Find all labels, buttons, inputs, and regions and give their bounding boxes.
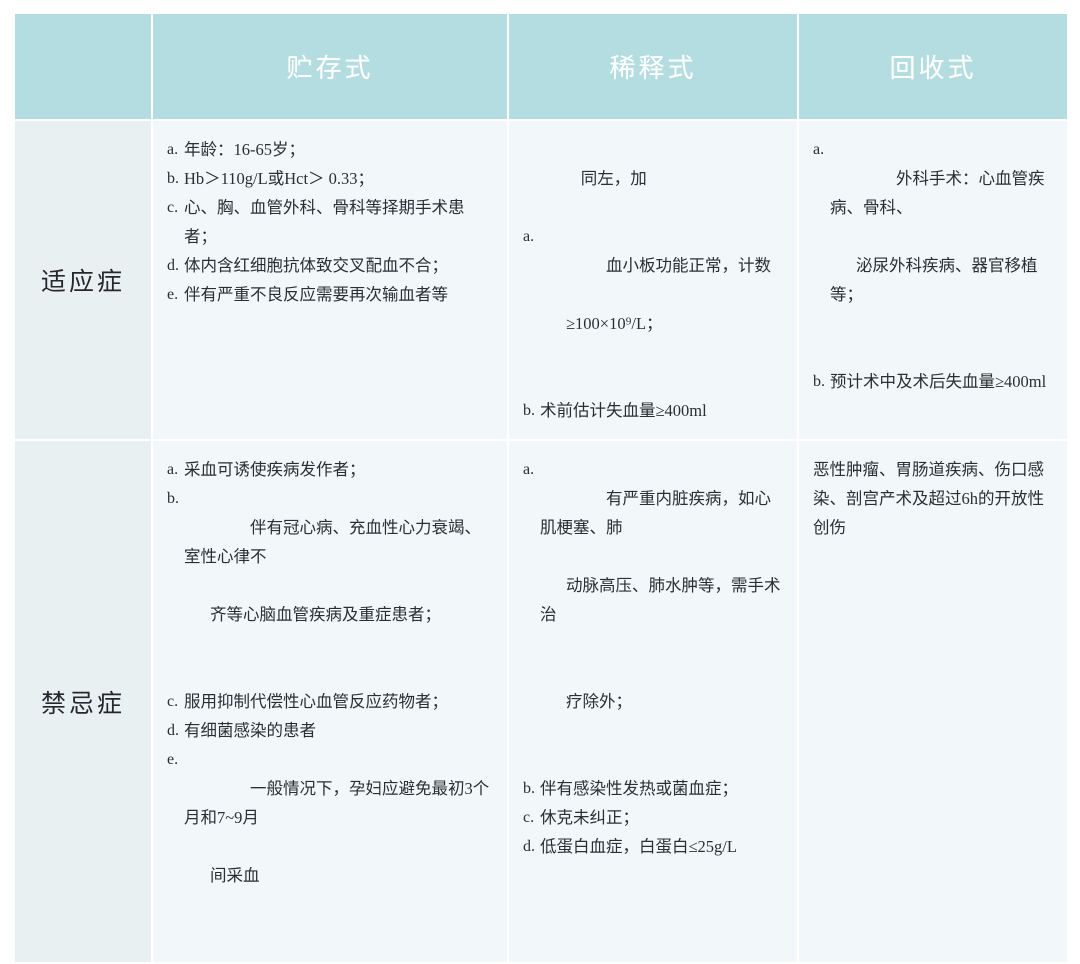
item-marker: d. [167,716,184,745]
item-marker: a. [167,455,184,484]
header-cell-recovery: 回收式 [799,14,1067,119]
item-list: a. 采血可诱使疾病发作者； b. 伴有冠心病、充血性心力衰竭、室性心律不 齐等… [167,455,497,948]
item-text: 体内含红细胞抗体致交叉配血不合； [184,251,497,280]
item-text: 心、胸、血管外科、骨科等择期手术患者； [184,193,497,251]
header-row: 贮存式 稀释式 回收式 [15,14,1067,119]
list-item: b. 伴有感染性发热或菌血症； [523,774,787,803]
table-body: 适应症 a. 年龄：16-65岁； b. Hb＞110g/L或Hct＞ 0.33… [15,121,1067,962]
item-marker: a. [523,455,540,484]
item-text-line1: 外科手术：心血管疾病、骨科、 [830,169,1045,217]
item-marker: a. [813,135,830,164]
list-item: c. 心、胸、血管外科、骨科等择期手术患者； [167,193,497,251]
item-text-cont: ≥100×10⁹/L； [540,309,787,338]
header-corner-cell [15,14,151,119]
item-marker: a. [523,222,540,251]
list-item: a. 采血可诱使疾病发作者； [167,455,497,484]
item-list: 同左，加 a. 血小板功能正常，计数 ≥100×10⁹/L； b. 术前估计失血… [523,135,787,425]
item-text: 伴有冠心病、充血性心力衰竭、室性心律不 齐等心脑血管疾病及重症患者； [184,484,497,687]
list-item: d. 体内含红细胞抗体致交叉配血不合； [167,251,497,280]
item-text-cont: 齐等心脑血管疾病及重症患者； [184,600,497,629]
item-marker: e. [167,745,184,774]
table-row: 禁忌症 a. 采血可诱使疾病发作者； b. 伴有冠心病、充血性心力衰竭、室性心律… [15,441,1067,962]
cell-indications-storage: a. 年龄：16-65岁； b. Hb＞110g/L或Hct＞ 0.33； c.… [153,121,507,439]
item-text: 休克未纠正； [540,803,787,832]
item-marker: b. [523,774,540,803]
header-cell-storage: 贮存式 [153,14,507,119]
list-item: a. 血小板功能正常，计数 ≥100×10⁹/L； [523,222,787,396]
item-text-line1: 伴有冠心病、充血性心力衰竭、室性心律不 [184,518,481,566]
cell-contraindications-storage: a. 采血可诱使疾病发作者； b. 伴有冠心病、充血性心力衰竭、室性心律不 齐等… [153,441,507,962]
item-text-cont: 泌尿外科疾病、器官移植等； [830,251,1057,309]
list-item: c. 服用抑制代偿性心血管反应药物者； [167,687,497,716]
item-text: 有严重内脏疾病，如心肌梗塞、肺 动脉高压、肺水肿等，需手术治 疗除外； [540,455,787,774]
list-item: b. 预计术中及术后失血量≥400ml [813,367,1057,396]
item-list: a. 年龄：16-65岁； b. Hb＞110g/L或Hct＞ 0.33； c.… [167,135,497,309]
item-text: 一般情况下，孕妇应避免最初3个月和7~9月 间采血 [184,745,497,948]
list-item: e. 一般情况下，孕妇应避免最初3个月和7~9月 间采血 [167,745,497,948]
item-marker: d. [523,832,540,861]
cell-contraindications-recovery: 恶性肿瘤、胃肠道疾病、伤口感染、剖宫产术及超过6h的开放性创伤 [799,441,1067,962]
item-text: 年龄：16-65岁； [184,135,497,164]
comparison-table-container: 贮存式 稀释式 回收式 适应症 a. 年龄：16-65岁； b. [13,12,1063,505]
item-text-line1: 有严重内脏疾病，如心肌梗塞、肺 [540,489,771,537]
cell-indications-dilution: 同左，加 a. 血小板功能正常，计数 ≥100×10⁹/L； b. 术前估计失血… [509,121,797,439]
item-text-cont: 间采血 [184,861,497,890]
item-text: 采血可诱使疾病发作者； [184,455,497,484]
item-marker: b. [167,164,184,193]
cell-indications-recovery: a. 外科手术：心血管疾病、骨科、 泌尿外科疾病、器官移植等； b. 预计术中及… [799,121,1067,439]
table-header: 贮存式 稀释式 回收式 [15,14,1067,119]
item-marker: e. [167,280,184,309]
item-text: 血小板功能正常，计数 ≥100×10⁹/L； [540,222,787,396]
item-text: 低蛋白血症，白蛋白≤25g/L [540,832,787,861]
item-text-cont2: 疗除外； [540,687,787,716]
row-label-indications: 适应症 [15,121,151,439]
item-marker: c. [523,803,540,832]
item-text: 有细菌感染的患者 [184,716,497,745]
item-text-cont: 动脉高压、肺水肿等，需手术治 [540,571,787,629]
item-text-line1: 一般情况下，孕妇应避免最初3个月和7~9月 [184,779,489,827]
lead-text: 同左，加 [581,169,647,188]
list-item: d. 有细菌感染的患者 [167,716,497,745]
header-cell-dilution: 稀释式 [509,14,797,119]
comparison-table: 贮存式 稀释式 回收式 适应症 a. 年龄：16-65岁； b. [13,12,1069,964]
item-marker: b. [813,367,830,396]
list-lead-text: 同左，加 [523,135,787,222]
cell-contraindications-dilution: a. 有严重内脏疾病，如心肌梗塞、肺 动脉高压、肺水肿等，需手术治 疗除外； b… [509,441,797,962]
item-text: 伴有严重不良反应需要再次输血者等 [184,280,497,309]
list-item: d. 低蛋白血症，白蛋白≤25g/L [523,832,787,861]
list-item: b. Hb＞110g/L或Hct＞ 0.33； [167,164,497,193]
item-text: 服用抑制代偿性心血管反应药物者； [184,687,497,716]
list-item: a. 外科手术：心血管疾病、骨科、 泌尿外科疾病、器官移植等； [813,135,1057,367]
item-marker: c. [167,687,184,716]
cell-paragraph: 恶性肿瘤、胃肠道疾病、伤口感染、剖宫产术及超过6h的开放性创伤 [813,455,1057,542]
item-text: 伴有感染性发热或菌血症； [540,774,787,803]
row-label-contraindications: 禁忌症 [15,441,151,962]
item-text: 术前估计失血量≥400ml [540,396,787,425]
item-list: a. 外科手术：心血管疾病、骨科、 泌尿外科疾病、器官移植等； b. 预计术中及… [813,135,1057,396]
table-row: 适应症 a. 年龄：16-65岁； b. Hb＞110g/L或Hct＞ 0.33… [15,121,1067,439]
list-item: a. 年龄：16-65岁； [167,135,497,164]
item-marker: d. [167,251,184,280]
item-list: a. 有严重内脏疾病，如心肌梗塞、肺 动脉高压、肺水肿等，需手术治 疗除外； b… [523,455,787,861]
list-item: a. 有严重内脏疾病，如心肌梗塞、肺 动脉高压、肺水肿等，需手术治 疗除外； [523,455,787,774]
list-item: b. 术前估计失血量≥400ml [523,396,787,425]
list-item: b. 伴有冠心病、充血性心力衰竭、室性心律不 齐等心脑血管疾病及重症患者； [167,484,497,687]
item-marker: b. [523,396,540,425]
item-text: Hb＞110g/L或Hct＞ 0.33； [184,164,497,193]
item-text: 外科手术：心血管疾病、骨科、 泌尿外科疾病、器官移植等； [830,135,1057,367]
item-text: 预计术中及术后失血量≥400ml [830,367,1057,396]
list-item: e. 伴有严重不良反应需要再次输血者等 [167,280,497,309]
item-text-line1: 血小板功能正常，计数 [606,256,771,275]
item-marker: a. [167,135,184,164]
item-marker: c. [167,193,184,222]
list-item: c. 休克未纠正； [523,803,787,832]
item-marker: b. [167,484,184,513]
